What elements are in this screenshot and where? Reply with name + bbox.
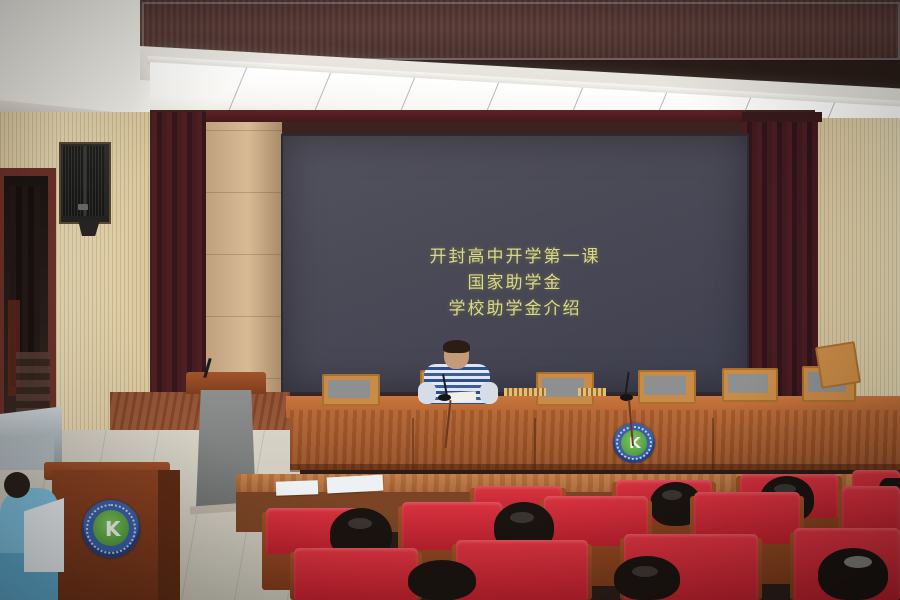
audience-seat[interactable]: [294, 548, 418, 600]
presenter-arm-left: [418, 382, 436, 404]
hair-highlight: [632, 566, 658, 577]
foreground-person-head: [4, 472, 30, 498]
microphone-base-right: [620, 394, 633, 401]
student-head: [818, 548, 888, 600]
projection-screen: 开封高中开学第一课 国家助学金 学校助学金介绍: [281, 134, 749, 394]
hair-clip: [844, 556, 872, 568]
stage-chair-angled: [815, 341, 861, 389]
audience-seat[interactable]: [456, 540, 588, 600]
curtain-rod: [742, 112, 822, 122]
head-table-seam: [412, 418, 414, 470]
head-table-shadow: [290, 464, 900, 472]
student-head: [408, 560, 476, 600]
upper-wall-frame: [142, 2, 900, 60]
hair-highlight: [662, 490, 682, 500]
head-table-seam: [534, 418, 536, 470]
table-nameplates: [578, 388, 606, 396]
emblem-letter: K: [105, 519, 121, 539]
table-nameplates: [504, 388, 546, 396]
head-table-seam: [712, 418, 714, 470]
screen-line-3: 学校助学金介绍: [283, 296, 747, 322]
screen-line-2: 国家助学金: [283, 270, 747, 296]
hair-highlight: [348, 518, 372, 529]
curtain-valance: [206, 110, 746, 122]
student-head: [614, 556, 680, 600]
head-table-grain: [290, 410, 900, 470]
paper-sheet: [327, 475, 384, 494]
lectern-school-emblem: K: [82, 500, 140, 558]
auditorium-photo: 开封高中开学第一课 国家助学金 学校助学金介绍 K: [0, 0, 900, 600]
stage-chair-back: [728, 374, 768, 393]
projection-screen-text: 开封高中开学第一课 国家助学金 学校助学金介绍: [283, 244, 747, 322]
screen-line-1: 开封高中开学第一课: [283, 244, 747, 270]
paper-sheet: [276, 480, 318, 495]
stage-wall-panel-seams: [206, 130, 282, 412]
lectern-side: [158, 470, 180, 600]
hair-highlight: [510, 512, 534, 523]
speaker-badge: [78, 204, 88, 210]
ceiling-surface-left: [0, 0, 150, 118]
stage-chair-back: [328, 380, 370, 398]
stage-chair-back: [644, 376, 686, 395]
stage-curtain-left: [152, 112, 210, 412]
presenter-arm-right: [480, 382, 498, 404]
school-emblem: K: [613, 423, 655, 463]
doorway-steps: [16, 352, 50, 416]
presenter-hair: [443, 340, 470, 353]
